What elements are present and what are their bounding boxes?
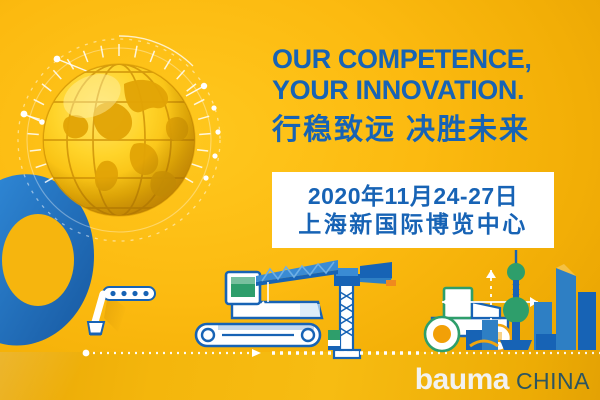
bauma-china-logo: bauma CHINA — [415, 365, 590, 396]
event-date: 2020年11月24-27日 — [308, 183, 518, 210]
date-venue-box: 2020年11月24-27日 上海新国际博览中心 — [272, 172, 554, 248]
machinery-illustration — [0, 246, 600, 361]
logo-region-text: CHINA — [516, 366, 590, 396]
headline-chinese: 行稳致远 决胜未来 — [272, 110, 582, 150]
golden-globe-icon — [6, 22, 232, 248]
bauma-china-poster: OUR COMPETENCE, YOUR INNOVATION. 行稳致远 决胜… — [0, 0, 600, 400]
headline-block: OUR COMPETENCE, YOUR INNOVATION. 行稳致远 决胜… — [272, 44, 582, 150]
excavator-arm-icon — [88, 287, 155, 334]
site-marker-icon — [328, 330, 340, 350]
logo-brand-text: bauma — [415, 365, 509, 395]
headline-line-1: OUR COMPETENCE, — [272, 44, 582, 75]
event-venue: 上海新国际博览中心 — [298, 210, 528, 238]
headline-line-2: YOUR INNOVATION. — [272, 75, 582, 106]
